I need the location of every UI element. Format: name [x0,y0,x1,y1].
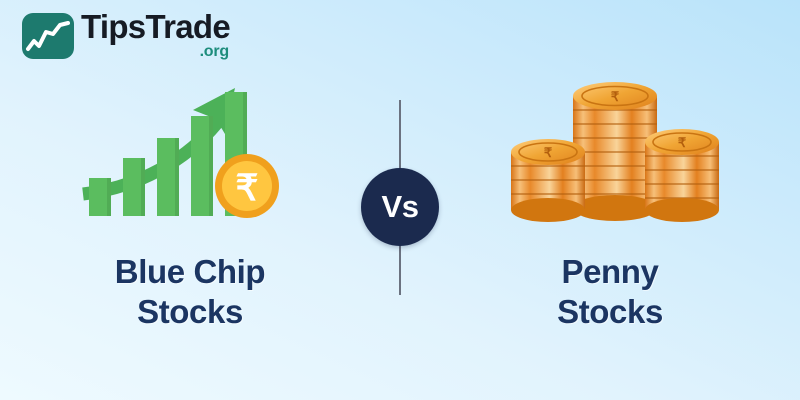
svg-text:₹: ₹ [236,167,259,208]
caption-blue-chip-stocks: Blue Chip Stocks [25,252,355,333]
vs-badge: Vs [361,168,439,246]
growth-bar-chart-with-rupee-coin-illustration: ₹ [25,70,355,230]
caption-penny-stocks: Penny Stocks [445,252,775,333]
svg-text:₹: ₹ [678,135,687,150]
brand-name: TipsTrade [81,10,230,43]
stacked-gold-coins-illustration: ₹ ₹ [445,70,775,230]
comparison-side-blue-chip-stocks: ₹ Blue Chip Stocks [25,70,355,340]
coin-stack-right: ₹ [645,129,719,222]
comparison-side-penny-stocks: ₹ ₹ [445,70,775,340]
caption-line-1: Penny [445,252,775,292]
brand-tld: .org [81,44,229,60]
coin-stack-left: ₹ [511,139,585,222]
caption-line-2: Stocks [25,292,355,332]
caption-line-1: Blue Chip [25,252,355,292]
rupee-coin-icon: ₹ [215,154,279,218]
caption-line-2: Stocks [445,292,775,332]
brand-logo[interactable]: TipsTrade .org [22,10,230,60]
uptrend-chart-logo-icon [22,13,74,59]
coin-stack-center: ₹ [573,82,657,221]
svg-text:₹: ₹ [611,89,620,104]
svg-text:₹: ₹ [544,145,553,160]
infographic-canvas: TipsTrade .org [0,0,800,400]
